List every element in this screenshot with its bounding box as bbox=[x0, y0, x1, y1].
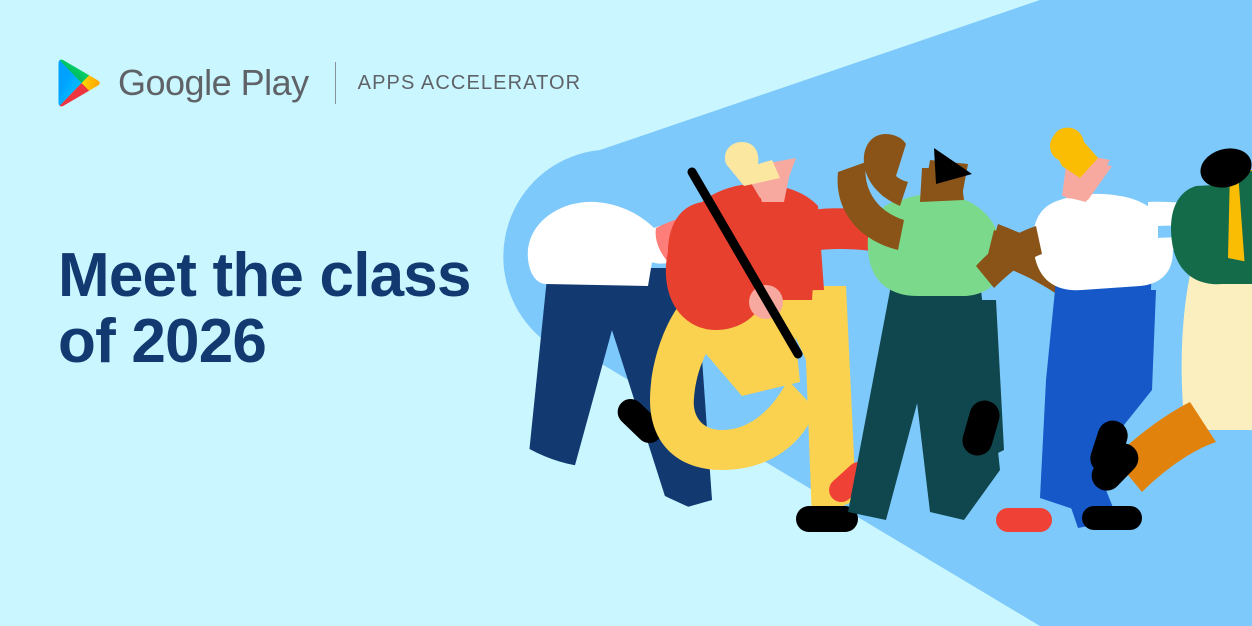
google-play-wordmark: Google Play bbox=[118, 65, 309, 101]
apps-accelerator-label: APPS ACCELERATOR bbox=[358, 73, 582, 93]
brand-lockup: Google Play APPS ACCELERATOR bbox=[58, 58, 581, 108]
lockup-divider bbox=[335, 62, 336, 104]
headline-text: Meet the class of 2026 bbox=[58, 243, 471, 374]
promo-banner: Google Play APPS ACCELERATOR Meet the cl… bbox=[0, 0, 1252, 626]
google-play-triangle-icon bbox=[58, 59, 102, 107]
